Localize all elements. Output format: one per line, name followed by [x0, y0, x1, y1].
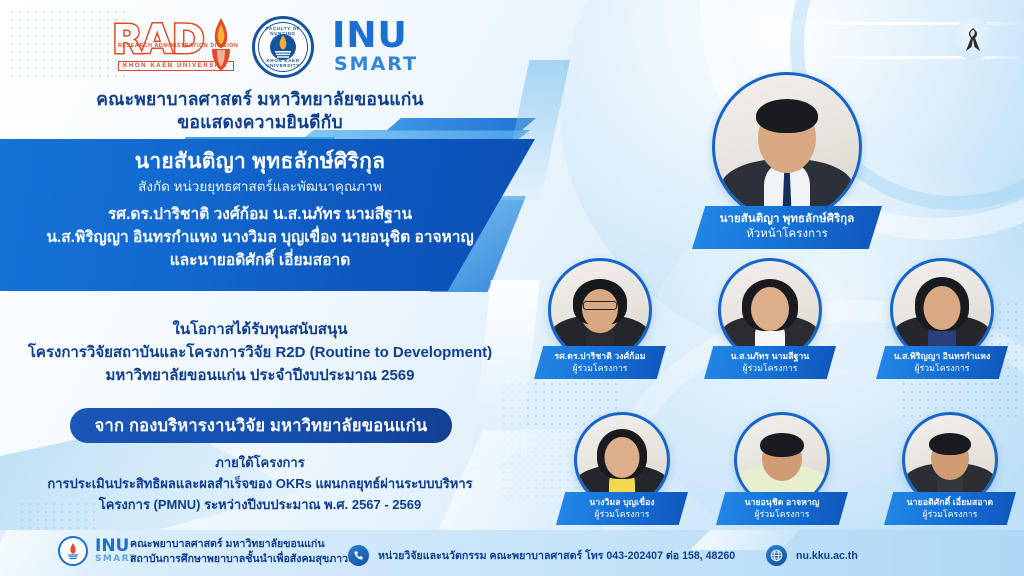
under-project-block: ภายใต้โครงการ การประเมินประสิทธิผลและผลส… [0, 452, 520, 515]
seal-bottom-text: KHON KAEN UNIVERSITY [255, 58, 311, 68]
coauthor-list: รศ.ดร.ปาริชาติ วงศ์ก้อม น.ส.นภัทร นามสีฐ… [0, 203, 520, 272]
portrait-caption: นายสันติญา พุทธลักษ์ศิริกุล หัวหน้าโครงก… [692, 206, 882, 249]
portrait-7: นายอดิศักดิ์ เอี่ยมสอาด ผู้ร่วมโครงการ [884, 412, 1016, 525]
coauthor-line: น.ส.พิริญญา อินทรกำแหง นางวิมล บุญเขื่อง… [0, 226, 520, 249]
honoree-unit: สังกัด หน่วยยุทธศาสตร์และพัฒนาคุณภาพ [0, 176, 520, 197]
congratulations-heading: คณะพยาบาลศาสตร์ มหาวิทยาลัยขอนแก่น ขอแสด… [0, 88, 520, 140]
footer-phone-block: หน่วยวิจัยและนวัตกรรม คณะพยาบาลศาสตร์ โท… [348, 545, 735, 566]
figure-hair [756, 99, 818, 133]
coauthor-line: รศ.ดร.ปาริชาติ วงศ์ก้อม น.ส.นภัทร นามสีฐ… [0, 203, 520, 226]
congratulations-poster: RAD RESEARCH ADMINISTRATION DIVISION KHO… [0, 0, 1024, 576]
congrats-line-2: ขอแสดงความยินดีกับ [0, 111, 520, 134]
portrait-role: ผู้ร่วมโครงการ [550, 362, 650, 374]
portrait-2: รศ.ดร.ปาริชาติ วงศ์ก้อม ผู้ร่วมโครงการ [534, 258, 666, 379]
portrait-role: ผู้ร่วมโครงการ [900, 508, 1000, 520]
phone-icon [348, 545, 369, 566]
portrait-name: รศ.ดร.ปาริชาติ วงศ์ก้อม [555, 351, 646, 361]
logo-row: RAD RESEARCH ADMINISTRATION DIVISION KHO… [112, 16, 418, 78]
inu-logo-main: INU [332, 19, 418, 53]
figure-head [751, 287, 789, 331]
portrait-4: น.ส.พิริญญา อินทรกำแหง ผู้ร่วมโครงการ [876, 258, 1008, 379]
footer-website-text: nu.kku.ac.th [796, 550, 858, 562]
portrait-role: ผู้ร่วมโครงการ [892, 362, 992, 374]
footer-website-block[interactable]: nu.kku.ac.th [766, 545, 858, 566]
honoree-block: นายสันติญา พุทธลักษ์ศิริกุล สังกัด หน่วย… [0, 139, 520, 291]
portrait-lead: นายสันติญา พุทธลักษ์ศิริกุล หัวหน้าโครงก… [692, 72, 882, 249]
bg-line-2 [820, 56, 1024, 59]
portrait-3: น.ส.นภัทร นามสีฐาน ผู้ร่วมโครงการ [704, 258, 836, 379]
occasion-line-2: โครงการวิจัยสถาบันและโครงการวิจัย R2D (R… [0, 341, 520, 364]
globe-glyph [770, 549, 783, 562]
occasion-line-3: มหาวิทยาลัยขอนแก่น ประจำปีงบประมาณ 2569 [0, 364, 520, 387]
under-project-line-2: การประเมินประสิทธิผลและผลสำเร็จของ OKRs … [0, 473, 520, 494]
phone-glyph [353, 550, 365, 562]
portrait-role: ผู้ร่วมโครงการ [732, 508, 832, 520]
portrait-name: น.ส.พิริญญา อินทรกำแหง [894, 351, 991, 361]
black-ribbon-icon [962, 25, 984, 53]
portrait-caption: น.ส.พิริญญา อินทรกำแหง ผู้ร่วมโครงการ [876, 346, 1008, 379]
portrait-caption: นายอดิศักดิ์ เอี่ยมสอาด ผู้ร่วมโครงการ [884, 492, 1016, 525]
portrait-name: น.ส.นภัทร นามสีฐาน [731, 351, 810, 361]
under-project-line-1: ภายใต้โครงการ [0, 452, 520, 473]
portrait-role: ผู้ร่วมโครงการ [572, 508, 672, 520]
figure-hair [760, 433, 804, 457]
congrats-line-1: คณะพยาบาลศาสตร์ มหาวิทยาลัยขอนแก่น [0, 88, 520, 111]
portrait-caption: รศ.ดร.ปาริชาติ วงศ์ก้อม ผู้ร่วมโครงการ [534, 346, 666, 379]
occasion-block: ในโอกาสได้รับทุนสนับสนุน โครงการวิจัยสถา… [0, 318, 520, 387]
faculty-of-nursing-seal: FACULTY OF NURSING KHON KAEN UNIVERSITY [252, 16, 314, 78]
mourning-ribbon-badge [952, 18, 994, 60]
portrait-caption: นางวิมล บุญเขื่อง ผู้ร่วมโครงการ [556, 492, 688, 525]
portrait-5: นางวิมล บุญเขื่อง ผู้ร่วมโครงการ [556, 412, 688, 525]
granting-body-pill: จาก กองบริหารงานวิจัย มหาวิทยาลัยขอนแก่น [70, 408, 452, 443]
footer-faculty-text: คณะพยาบาลศาสตร์ มหาวิทยาลัยขอนแก่น สถาบั… [130, 537, 354, 566]
footer-flame-icon [65, 542, 81, 560]
rad-logo: RAD RESEARCH ADMINISTRATION DIVISION KHO… [112, 17, 238, 77]
figure-head [924, 286, 961, 330]
portrait-role: หัวหน้าโครงการ [718, 227, 856, 242]
inu-logo-sub: SMART [332, 53, 418, 75]
bg-dots-top-left [8, 8, 128, 78]
footer-phone-text: หน่วยวิจัยและนวัตกรรม คณะพยาบาลศาสตร์ โท… [378, 547, 735, 564]
portrait-caption: นายอนุชิต อาจหาญ ผู้ร่วมโครงการ [716, 492, 848, 525]
figure-hair [929, 433, 971, 455]
footer-inu-logo: INU SMART [58, 536, 137, 566]
coauthor-line: และนายอดิศักดิ์ เอี่ยมสอาด [0, 249, 520, 272]
occasion-line-1: ในโอกาสได้รับทุนสนับสนุน [0, 318, 520, 341]
inu-smart-logo: INU SMART [332, 19, 418, 75]
portrait-name: นายอนุชิต อาจหาญ [745, 497, 820, 507]
figure-head [605, 437, 640, 478]
portrait-caption: น.ส.นภัทร นามสีฐาน ผู้ร่วมโครงการ [704, 346, 836, 379]
figure-glasses [583, 301, 617, 310]
portrait-name: นางวิมล บุญเขื่อง [589, 497, 654, 507]
footer-faculty-line-2: สถาบันการศึกษาพยาบาลชั้นนำเพื่อสังคมสุขภ… [130, 552, 354, 567]
footer-faculty-line-1: คณะพยาบาลศาสตร์ มหาวิทยาลัยขอนแก่น [130, 537, 354, 552]
kku-flame-icon [208, 17, 234, 73]
portrait-role: ผู้ร่วมโครงการ [720, 362, 820, 374]
globe-icon [766, 545, 787, 566]
honoree-name: นายสันติญา พุทธลักษ์ศิริกุล [0, 147, 520, 176]
footer-seal-icon [58, 536, 88, 566]
portrait-name: นายอดิศักดิ์ เอี่ยมสอาด [907, 497, 993, 507]
under-project-line-3: โครงการ (PMNU) ระหว่างปีงบประมาณ พ.ศ. 25… [0, 494, 520, 515]
portrait-6: นายอนุชิต อาจหาญ ผู้ร่วมโครงการ [716, 412, 848, 525]
seal-top-text: FACULTY OF NURSING [255, 26, 311, 36]
portrait-name: นายสันติญา พุทธลักษ์ศิริกุล [720, 213, 855, 225]
portrait-photo [712, 72, 862, 222]
